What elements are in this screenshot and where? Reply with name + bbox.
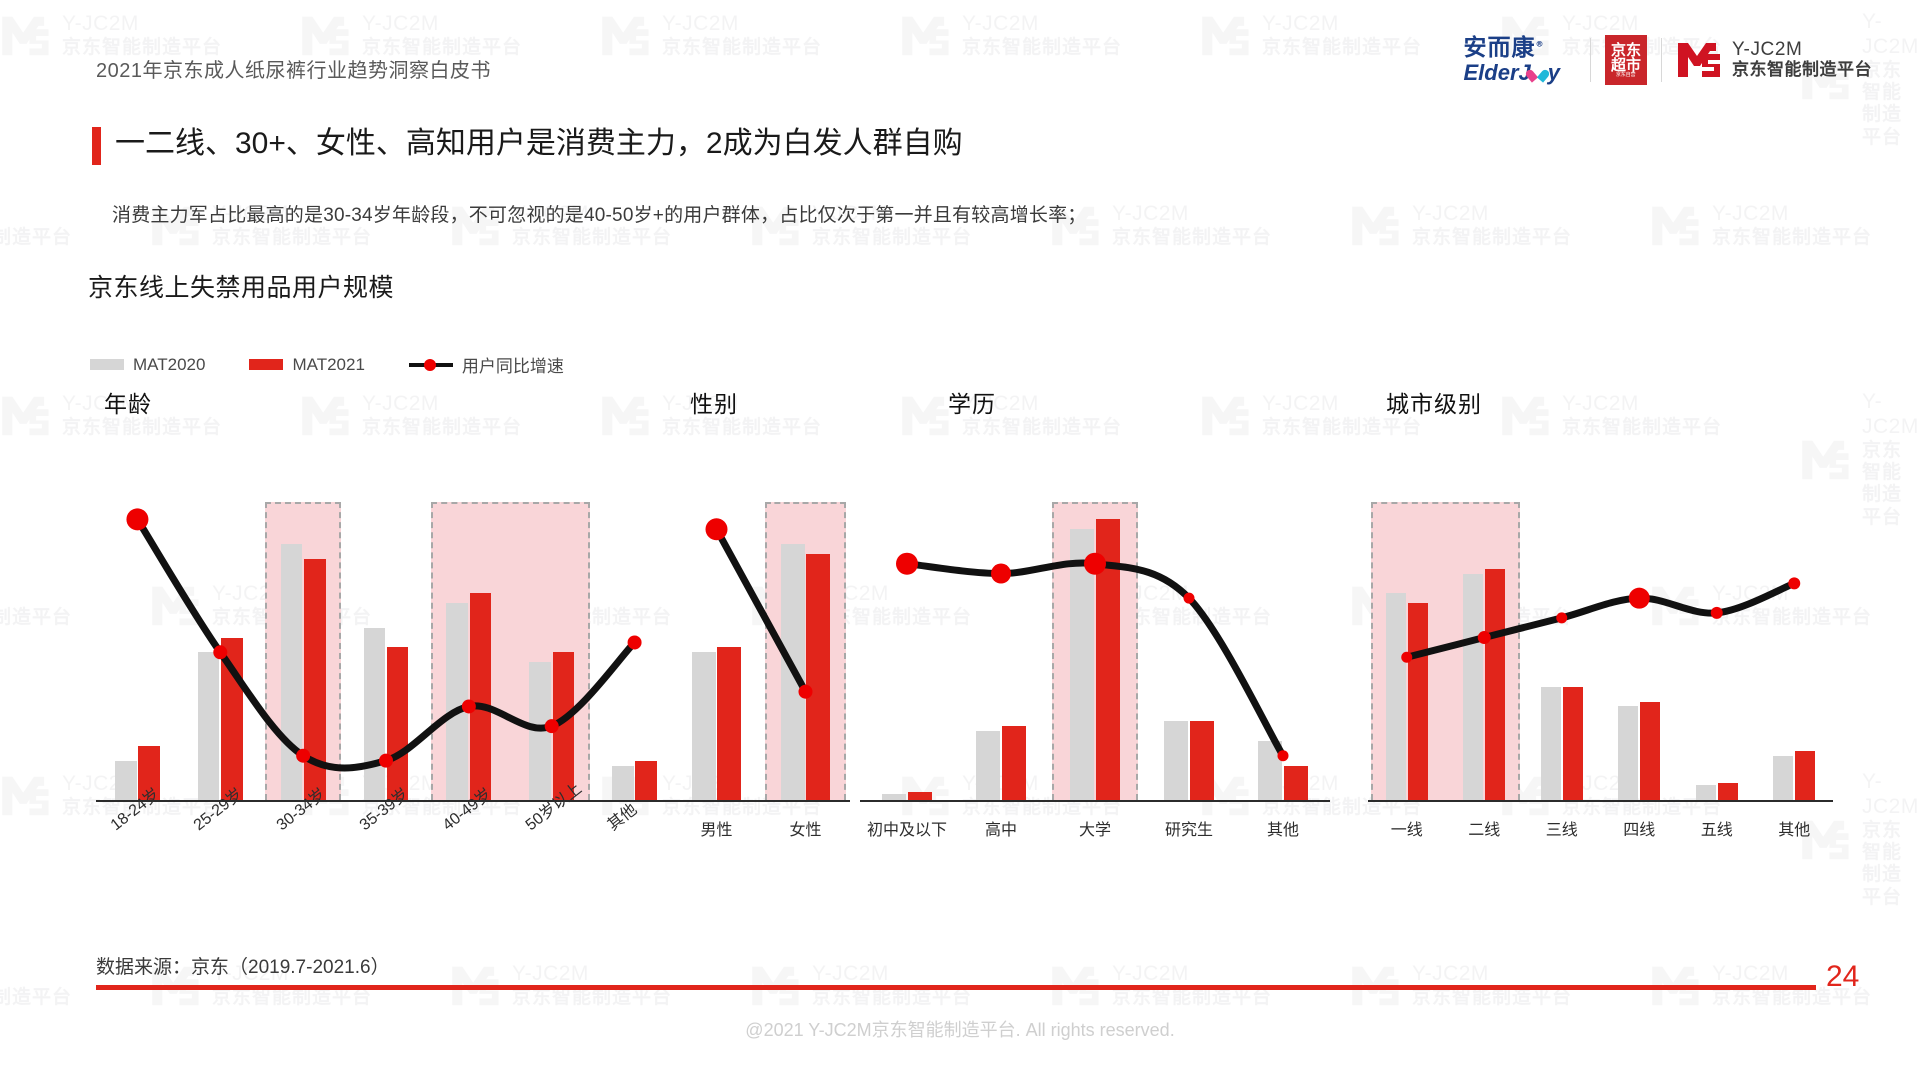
x-axis	[1368, 800, 1833, 802]
header-title: 2021年京东成人纸尿裤行业趋势洞察白皮书	[96, 54, 491, 83]
growth-marker[interactable]	[545, 719, 559, 733]
watermark-tile: Y-JC2M京东智能制造平台	[1650, 200, 1872, 252]
watermark-tile: Y-JC2M京东智能制造平台	[0, 960, 72, 1012]
elderjoy-cn-label: 安而康	[1463, 35, 1535, 61]
x-tick-label: 其他	[1236, 816, 1330, 840]
yjc2m-line2: 京东智能制造平台	[1732, 61, 1872, 81]
chart-panel-education: 学历初中及以下高中大学研究生其他	[860, 385, 1330, 905]
plot-area	[96, 480, 676, 800]
legend-swatch-gray	[90, 359, 124, 370]
x-tick-label: 三线	[1523, 816, 1601, 840]
x-tick-labels: 一线二线三线四线五线其他	[1368, 810, 1833, 900]
legend-label: 用户同比增速	[462, 352, 564, 377]
growth-marker[interactable]	[1629, 588, 1650, 609]
legend-item[interactable]: MAT2020	[90, 355, 205, 375]
legend-label: MAT2020	[133, 355, 205, 375]
copyright-notice: @2021 Y-JC2M京东智能制造平台. All rights reserve…	[0, 1016, 1920, 1042]
chart-panel-title: 城市级别	[1386, 385, 1482, 419]
growth-marker[interactable]	[1278, 750, 1289, 761]
growth-marker[interactable]	[896, 553, 918, 575]
growth-marker[interactable]	[1084, 553, 1106, 575]
elderjoy-en-label: ElderJ	[1463, 60, 1530, 85]
page-number: 24	[1826, 960, 1859, 994]
growth-marker[interactable]	[628, 635, 642, 649]
subtitle-text: 消费主力军占比最高的是30-34岁年龄段，不可忽视的是40-50岁+的用户群体，…	[112, 200, 1087, 227]
legend-line-marker	[409, 359, 453, 370]
growth-marker[interactable]	[379, 754, 393, 768]
x-tick-label: 五线	[1678, 816, 1756, 840]
data-source-label: 数据来源：京东（2019.7-2021.6）	[96, 952, 390, 979]
heart-icon	[1531, 65, 1548, 82]
x-tick-labels: 男性女性	[672, 810, 850, 900]
chart-panel-gender: 性别男性女性	[672, 385, 850, 905]
chart-legend: MAT2020MAT2021 用户同比增速	[90, 352, 564, 377]
jd-supermarket-logo: 京东 超市 京东自营	[1605, 35, 1647, 85]
x-axis	[860, 800, 1330, 802]
x-tick-label: 四线	[1601, 816, 1679, 840]
x-axis	[672, 800, 850, 802]
logo-divider	[1590, 38, 1591, 82]
growth-line-layer	[860, 480, 1330, 800]
yjc2m-mark-icon	[1676, 40, 1722, 80]
legend-swatch-red	[249, 359, 283, 370]
headline-row: 一二线、30+、女性、高知用户是消费主力，2成为白发人群自购	[92, 124, 963, 165]
footer-rule	[96, 985, 1816, 990]
registered-mark: ®	[1535, 40, 1544, 49]
growth-marker[interactable]	[462, 699, 476, 713]
x-tick-label: 二线	[1446, 816, 1524, 840]
elderjoy-en-tail: y	[1548, 60, 1560, 85]
watermark-tile: Y-JC2M京东智能制造平台	[0, 200, 72, 252]
growth-line	[907, 563, 1283, 756]
charts-container: 年龄18-24岁25-29岁30-34岁35-39岁40-49岁50岁以上其他性…	[0, 385, 1920, 905]
logo-strip: 安而康® ElderJy 京东 超市 京东自营 Y-JC2M 京东智能制造平台	[1463, 34, 1872, 86]
x-tick-label: 其他	[1756, 816, 1834, 840]
jd-line2: 超市	[1611, 58, 1641, 73]
growth-line	[1407, 583, 1795, 657]
growth-marker[interactable]	[1478, 631, 1491, 644]
x-tick-label: 一线	[1368, 816, 1446, 840]
growth-marker[interactable]	[1184, 593, 1195, 604]
growth-marker[interactable]	[799, 685, 813, 699]
growth-marker[interactable]	[991, 564, 1011, 584]
jd-line3: 京东自营	[1616, 73, 1636, 78]
jd-line1: 京东	[1611, 43, 1641, 58]
growth-line	[137, 519, 634, 768]
growth-line-layer	[672, 480, 850, 800]
x-tick-label: 男性	[672, 816, 761, 840]
chart-panel-title: 年龄	[104, 385, 152, 419]
growth-line	[717, 529, 806, 691]
growth-marker[interactable]	[126, 508, 148, 530]
plot-area	[1368, 480, 1833, 800]
growth-line-layer	[96, 480, 676, 800]
growth-marker[interactable]	[296, 749, 310, 763]
plot-area	[672, 480, 850, 800]
headline-accent-bar	[92, 127, 101, 165]
growth-marker[interactable]	[1711, 607, 1723, 619]
x-tick-label: 高中	[954, 816, 1048, 840]
x-tick-labels: 18-24岁25-29岁30-34岁35-39岁40-49岁50岁以上其他	[96, 810, 676, 900]
growth-marker[interactable]	[213, 645, 227, 659]
chart-panel-age: 年龄18-24岁25-29岁30-34岁35-39岁40-49岁50岁以上其他	[96, 385, 676, 905]
yjc2m-line1: Y-JC2M	[1732, 39, 1872, 61]
chart-panel-title: 学历	[948, 385, 996, 419]
plot-area	[860, 480, 1330, 800]
yjc2m-logo: Y-JC2M 京东智能制造平台	[1676, 39, 1872, 81]
growth-marker[interactable]	[706, 518, 728, 540]
growth-marker[interactable]	[1401, 652, 1412, 663]
x-tick-label: 初中及以下	[860, 816, 954, 840]
growth-marker[interactable]	[1556, 612, 1567, 623]
growth-line-layer	[1368, 480, 1833, 800]
x-tick-label: 女性	[761, 816, 850, 840]
page-title: 一二线、30+、女性、高知用户是消费主力，2成为白发人群自购	[115, 124, 963, 163]
chart-panel-city_tier: 城市级别一线二线三线四线五线其他	[1368, 385, 1833, 905]
x-tick-labels: 初中及以下高中大学研究生其他	[860, 810, 1330, 900]
legend-label: MAT2021	[292, 355, 364, 375]
growth-marker[interactable]	[1788, 577, 1800, 589]
chart-panel-title: 性别	[690, 385, 738, 419]
x-tick-label: 研究生	[1142, 816, 1236, 840]
logo-divider-2	[1661, 38, 1662, 82]
x-tick-label: 其他	[601, 796, 641, 835]
legend-item[interactable]: 用户同比增速	[409, 352, 564, 377]
chart-section-title: 京东线上失禁用品用户规模	[88, 268, 394, 304]
watermark-tile: Y-JC2M京东智能制造平台	[1350, 200, 1572, 252]
legend-item[interactable]: MAT2021	[249, 355, 364, 375]
document-header: 2021年京东成人纸尿裤行业趋势洞察白皮书 安而康® ElderJy 京东 超市…	[0, 0, 1920, 110]
x-tick-label: 大学	[1048, 816, 1142, 840]
elderjoy-logo: 安而康® ElderJy	[1463, 36, 1576, 83]
